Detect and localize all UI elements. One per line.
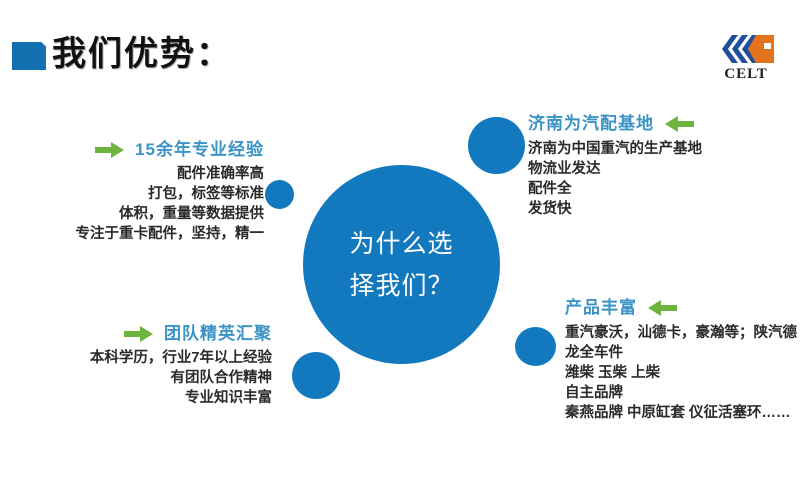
- callout-base: 济南为汽配基地 济南为中国重汽的生产基地 物流业发达 配件全 发货快: [528, 114, 798, 219]
- callout-line: 打包，标签等标准: [0, 184, 264, 204]
- arrow-left-icon: [664, 115, 694, 133]
- callout-products-header: 产品丰富: [565, 298, 800, 318]
- center-question-bubble: 为什么选择我们？: [303, 165, 500, 364]
- callout-base-body: 济南为中国重汽的生产基地 物流业发达 配件全 发货快: [528, 139, 798, 219]
- callout-products: 产品丰富 重汽豪沃，汕德卡，豪瀚等；陕汽德龙全车件 潍柴 玉柴 上柴 自主品牌 …: [565, 298, 800, 423]
- callout-team-header: 团队精英汇聚: [0, 324, 300, 344]
- arrow-right-icon: [124, 325, 154, 343]
- callout-base-header: 济南为汽配基地: [528, 114, 798, 134]
- callout-team-body: 本科学历，行业7年以上经验 有团队合作精神 专业知识丰富: [0, 348, 300, 408]
- callout-products-body: 重汽豪沃，汕德卡，豪瀚等；陕汽德龙全车件 潍柴 玉柴 上柴 自主品牌 秦燕品牌 …: [565, 323, 800, 423]
- slide-canvas: 我们优势： CELT 为什么选择我们？ 15余年专业经验 配件准确率高 打包，标…: [0, 0, 800, 480]
- callout-line: 专注于重卡配件，坚持，精一: [0, 224, 264, 244]
- accent-bubble-bottom-right: [515, 327, 556, 366]
- callout-line: 体积，重量等数据提供: [0, 204, 264, 224]
- callout-line: 发货快: [528, 199, 798, 219]
- callout-line: 重汽豪沃，汕德卡，豪瀚等；陕汽德龙全车件: [565, 323, 800, 363]
- callout-line: 潍柴 玉柴 上柴: [565, 363, 800, 383]
- callout-line: 配件准确率高: [0, 164, 264, 184]
- callout-experience-header: 15余年专业经验: [0, 140, 300, 160]
- arrow-left-icon: [647, 299, 677, 317]
- callout-line: 专业知识丰富: [0, 388, 272, 408]
- callout-experience-body: 配件准确率高 打包，标签等标准 体积，重量等数据提供 专注于重卡配件，坚持，精一: [0, 164, 300, 244]
- callout-line: 物流业发达: [528, 159, 798, 179]
- callout-team-heading: 团队精英汇聚: [164, 324, 272, 344]
- page-title: 我们优势：: [52, 30, 232, 78]
- center-question-label: 为什么选择我们？: [303, 165, 500, 364]
- logo-text: CELT: [704, 66, 788, 83]
- callout-base-heading: 济南为汽配基地: [528, 114, 654, 134]
- callout-line: 配件全: [528, 179, 798, 199]
- callout-line: 济南为中国重汽的生产基地: [528, 139, 798, 159]
- arrow-right-icon: [95, 141, 125, 159]
- callout-line: 本科学历，行业7年以上经验: [0, 348, 272, 368]
- callout-line: 自主品牌: [565, 383, 800, 403]
- callout-team: 团队精英汇聚 本科学历，行业7年以上经验 有团队合作精神 专业知识丰富: [0, 324, 300, 408]
- callout-experience-heading: 15余年专业经验: [135, 140, 264, 160]
- callout-line: 秦燕品牌 中原缸套 仪征活塞环……: [565, 403, 800, 423]
- celt-chevron-logo-icon: [718, 32, 778, 66]
- blue-square-icon: [12, 42, 46, 70]
- callout-line: 有团队合作精神: [0, 368, 272, 388]
- callout-experience: 15余年专业经验 配件准确率高 打包，标签等标准 体积，重量等数据提供 专注于重…: [0, 140, 300, 244]
- brand-logo: CELT: [704, 32, 788, 88]
- callout-products-heading: 产品丰富: [565, 298, 637, 318]
